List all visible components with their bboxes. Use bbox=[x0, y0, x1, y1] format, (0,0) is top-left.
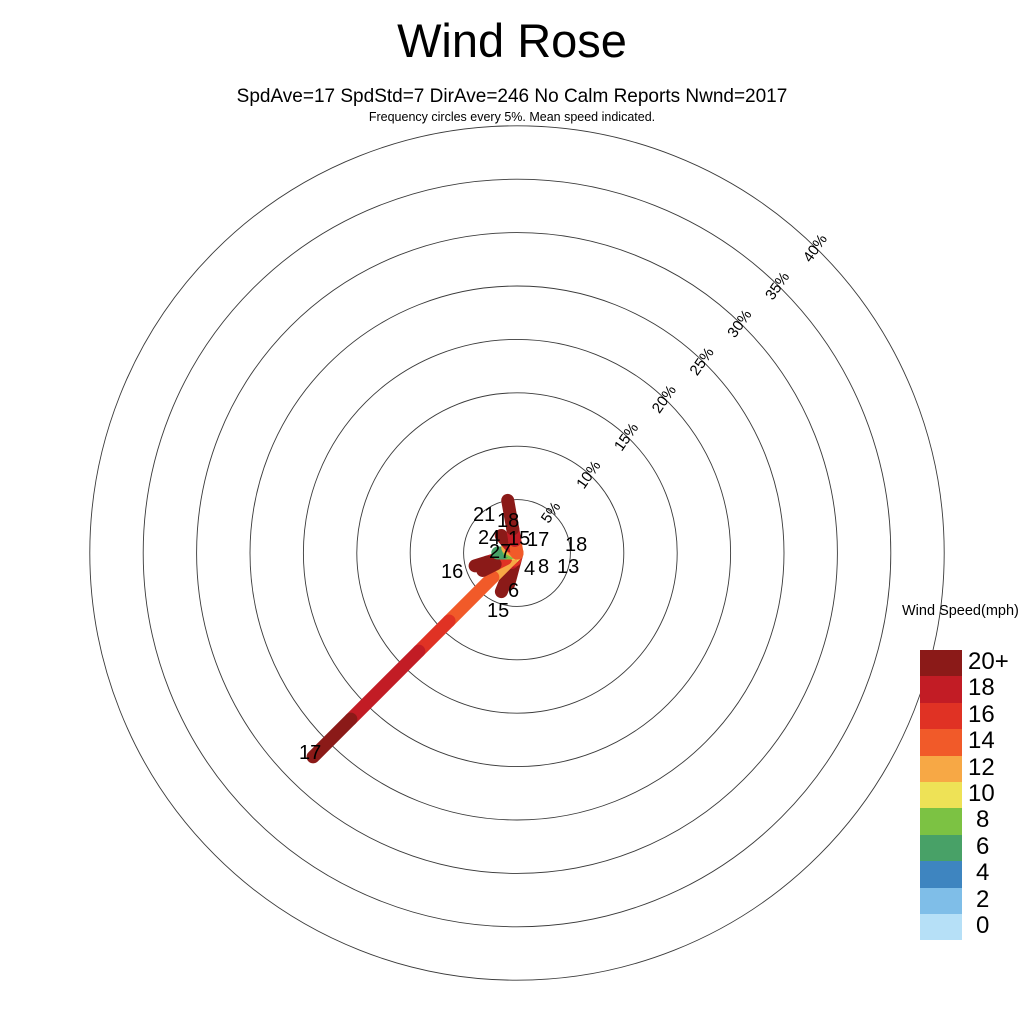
legend-color-swatch bbox=[920, 782, 962, 808]
wind-rose-plot: 5%10%15%20%25%30%35%40% 2118241527171617… bbox=[0, 0, 1024, 1024]
legend-row: 2 bbox=[920, 888, 962, 914]
ring-label: 10% bbox=[573, 458, 604, 492]
petal-segment bbox=[351, 651, 419, 719]
ring-labels: 5%10%15%20%25%30%35%40% bbox=[538, 231, 831, 526]
legend-row: 16 bbox=[920, 703, 962, 729]
legend-color-swatch bbox=[920, 729, 962, 755]
ring-label: 30% bbox=[724, 307, 755, 341]
legend-row: 12 bbox=[920, 756, 962, 782]
petal-segment bbox=[501, 536, 505, 541]
legend-color-swatch bbox=[920, 888, 962, 914]
legend-row: 4 bbox=[920, 861, 962, 887]
petal-mean-speed-label: 17 bbox=[299, 742, 321, 764]
petal-mean-speed-label: 18 bbox=[565, 534, 587, 556]
petal-mean-speed-label: 17 bbox=[527, 529, 549, 551]
legend-color-swatch bbox=[920, 861, 962, 887]
legend-label: 0 bbox=[976, 911, 989, 941]
legend-color-swatch bbox=[920, 835, 962, 861]
legend-title: Wind Speed(mph) bbox=[902, 603, 1019, 619]
petal-segment bbox=[483, 564, 495, 570]
legend-color-swatch bbox=[920, 808, 962, 834]
legend-row: 18 bbox=[920, 676, 962, 702]
legend-row: 8 bbox=[920, 808, 962, 834]
legend-color-swatch bbox=[920, 703, 962, 729]
petal-mean-speed-label: 4 bbox=[524, 558, 535, 580]
petal-mean-speed-label: 27 bbox=[489, 541, 511, 563]
legend-color-swatch bbox=[920, 914, 962, 940]
petal-mean-speed-label: 13 bbox=[557, 556, 579, 578]
legend-color-swatch bbox=[920, 650, 962, 676]
petal-mean-speed-label: 8 bbox=[538, 556, 549, 578]
legend-row: 20+ bbox=[920, 650, 962, 676]
petal-mean-speed-label: 6 bbox=[508, 580, 519, 602]
ring-label: 35% bbox=[762, 269, 793, 303]
legend-row: 0 bbox=[920, 914, 962, 940]
ring-label: 15% bbox=[611, 420, 642, 454]
legend-row: 6 bbox=[920, 835, 962, 861]
petal-mean-speed-label: 15 bbox=[487, 600, 509, 622]
legend-swatches: 20+181614121086420 bbox=[920, 650, 962, 940]
ring-label: 40% bbox=[800, 231, 831, 265]
petal-mean-speed-label: 16 bbox=[441, 561, 463, 583]
wind-rose-page: Wind Rose SpdAve=17 SpdStd=7 DirAve=246 … bbox=[0, 0, 1024, 1024]
petal-mean-speed-label: 21 bbox=[473, 504, 495, 526]
legend-color-swatch bbox=[920, 756, 962, 782]
ring-label: 25% bbox=[687, 344, 718, 378]
legend-row: 14 bbox=[920, 729, 962, 755]
legend-color-swatch bbox=[920, 676, 962, 702]
legend-row: 10 bbox=[920, 782, 962, 808]
ring-label: 20% bbox=[649, 382, 680, 416]
